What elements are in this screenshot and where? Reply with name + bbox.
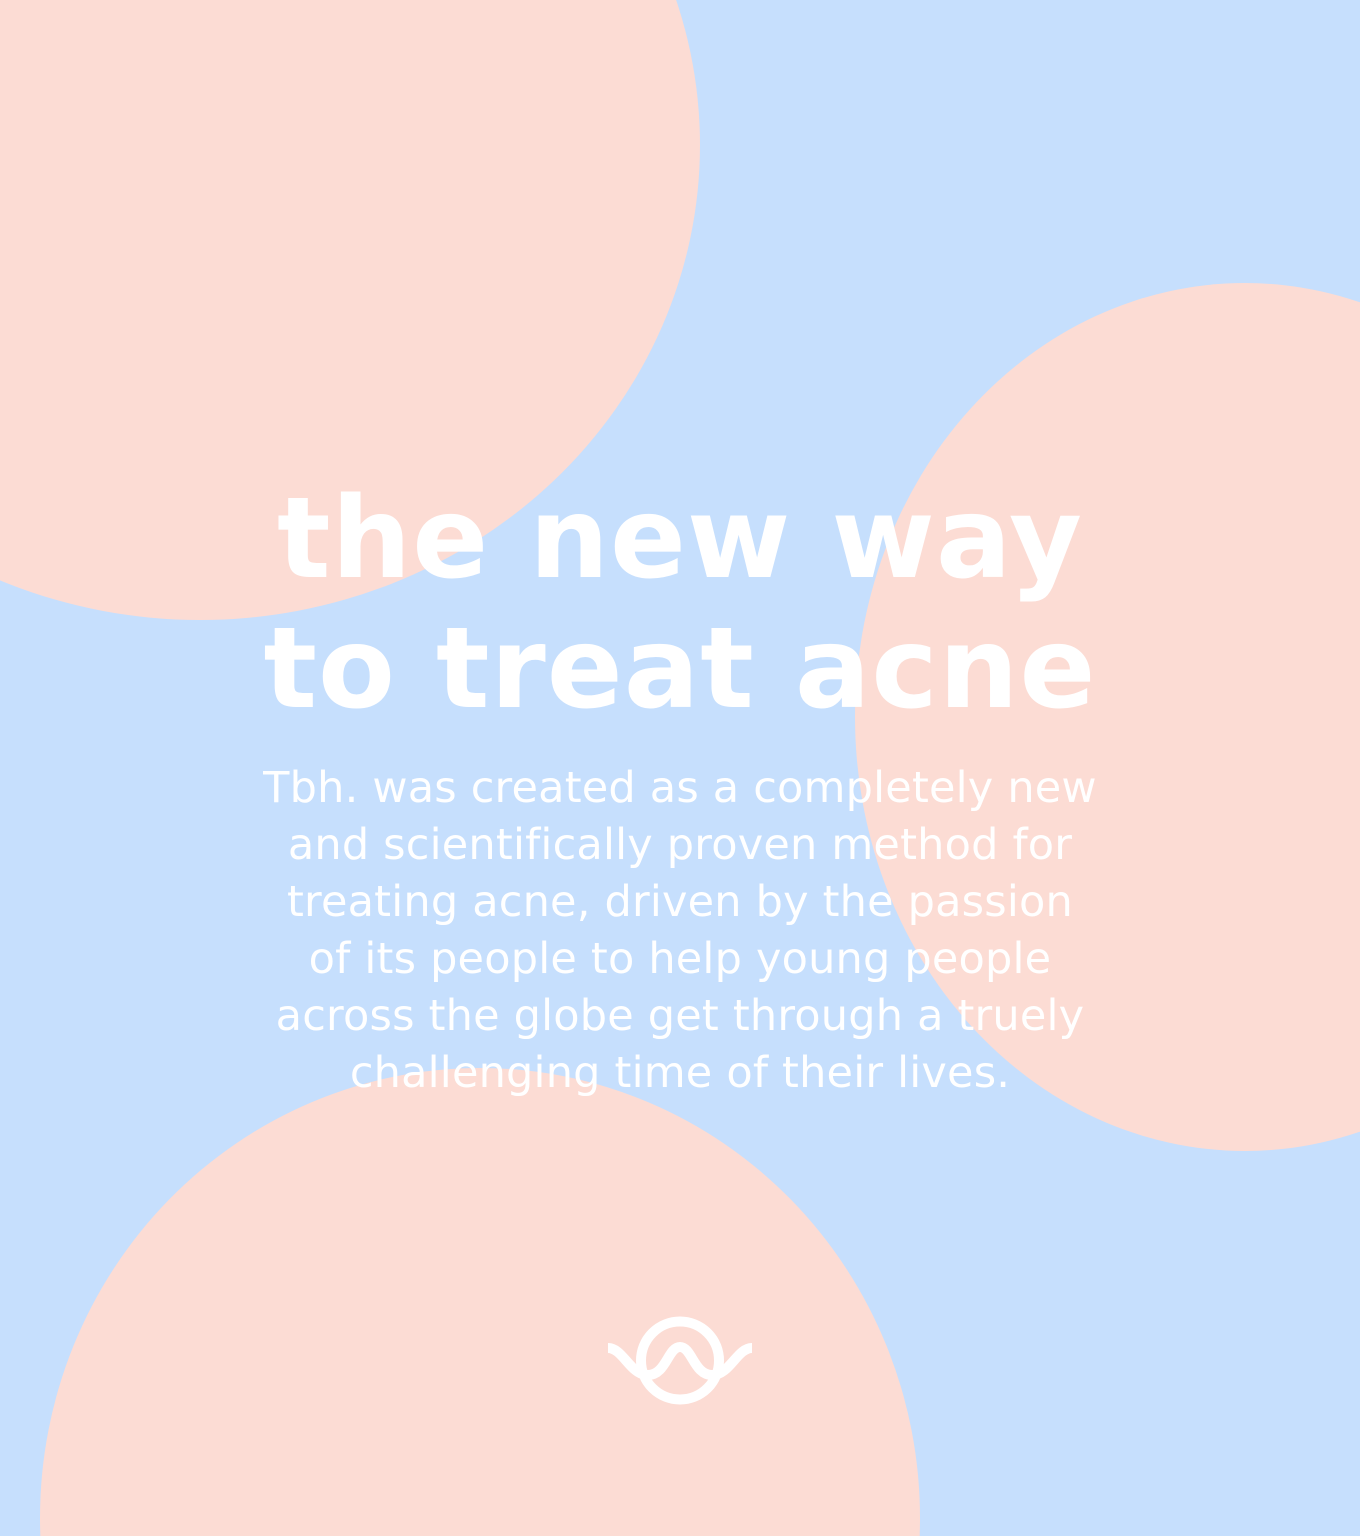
circle-wave-icon [600, 1303, 760, 1418]
poster-canvas: the new way to treat acne Tbh. was creat… [0, 0, 1360, 1536]
poster-content: the new way to treat acne Tbh. was creat… [0, 0, 1360, 1536]
headline: the new way to treat acne [0, 474, 1360, 734]
body-paragraph: Tbh. was created as a completely new and… [0, 760, 1360, 1102]
brand-logo [600, 1303, 760, 1418]
